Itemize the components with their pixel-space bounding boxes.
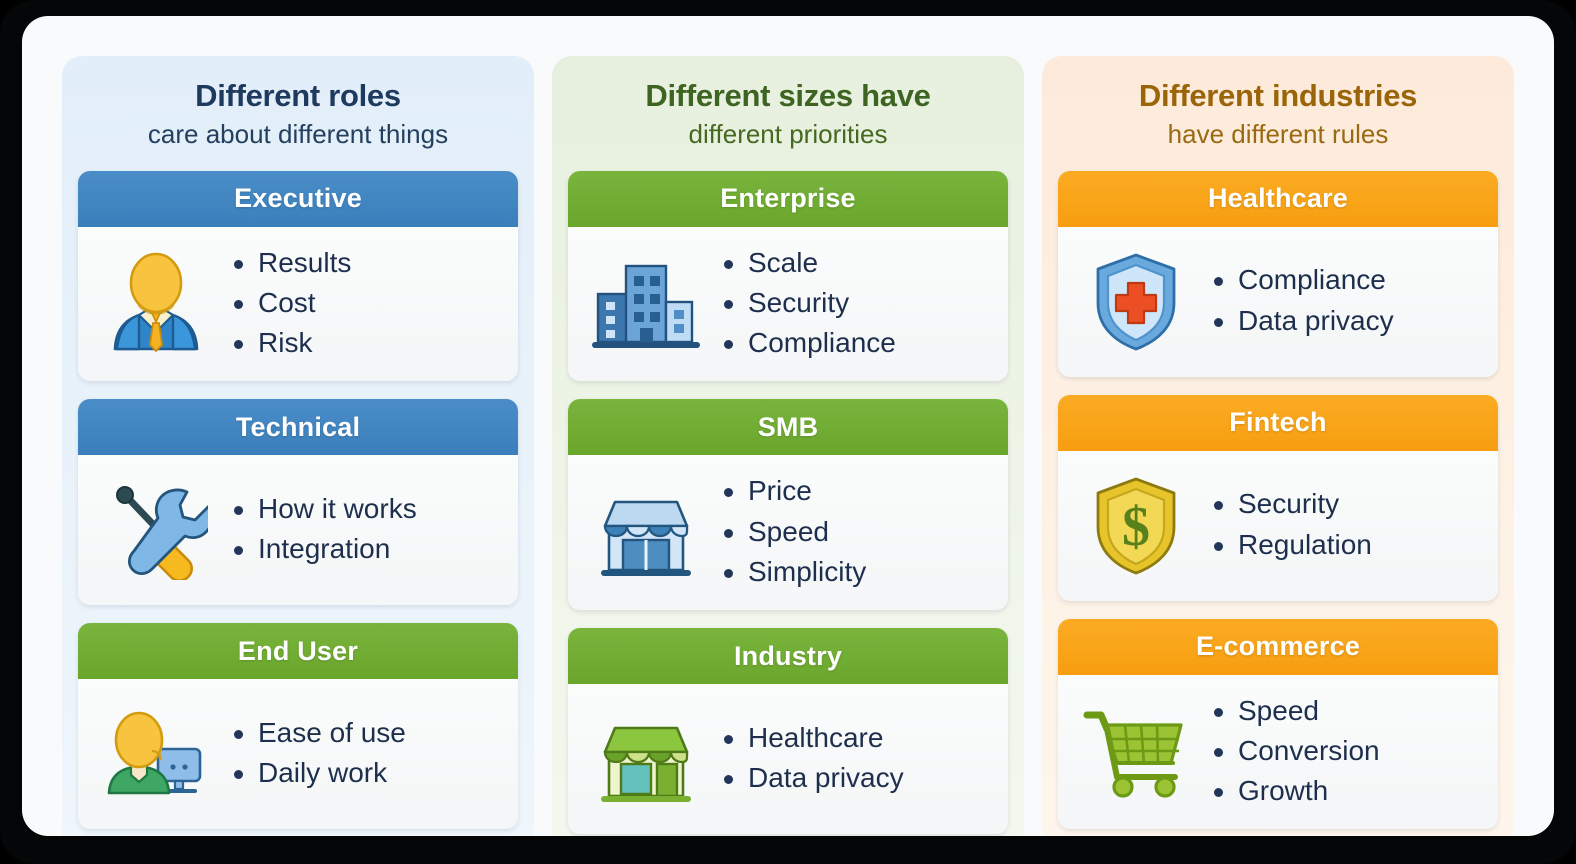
medical-shield-icon — [1076, 245, 1196, 357]
list-item: Security — [722, 283, 994, 323]
card-smb-header: SMB — [568, 399, 1008, 455]
list-item: Compliance — [1212, 260, 1484, 300]
card-fintech-body: $ Security Regulation — [1058, 451, 1498, 601]
card-healthcare-header: Healthcare — [1058, 171, 1498, 227]
outer-frame: Different roles care about different thi… — [0, 0, 1576, 864]
list-item: Speed — [1212, 691, 1484, 731]
column-roles-title: Different roles — [78, 78, 518, 113]
card-end-user-header: End User — [78, 623, 518, 679]
svg-text:$: $ — [1122, 496, 1150, 558]
card-smb-bullets: Price Speed Simplicity — [712, 471, 994, 592]
list-item: Ease of use — [232, 713, 504, 753]
list-item: Price — [722, 471, 994, 511]
column-roles-subtitle: care about different things — [78, 119, 518, 150]
card-executive[interactable]: Executive — [78, 171, 518, 382]
card-technical-bullets: How it works Integration — [222, 489, 504, 570]
list-item: Healthcare — [722, 718, 994, 758]
card-technical-body: How it works Integration — [78, 455, 518, 605]
shopping-cart-icon — [1076, 695, 1196, 807]
card-industry[interactable]: Industry — [568, 628, 1008, 834]
list-item: Data privacy — [1212, 301, 1484, 341]
dollar-shield-icon: $ — [1076, 469, 1196, 581]
wrench-screwdriver-icon — [96, 473, 216, 585]
list-item: Compliance — [722, 323, 994, 363]
card-fintech-header: Fintech — [1058, 395, 1498, 451]
card-industry-header: Industry — [568, 628, 1008, 684]
column-sizes-subtitle: different priorities — [568, 119, 1008, 150]
list-item: Growth — [1212, 771, 1484, 811]
list-item: Results — [232, 243, 504, 283]
card-executive-bullets: Results Cost Risk — [222, 243, 504, 364]
list-item: Speed — [722, 512, 994, 552]
business-person-icon — [96, 247, 216, 359]
list-item: Integration — [232, 529, 504, 569]
office-buildings-icon — [586, 247, 706, 359]
list-item: Security — [1212, 484, 1484, 524]
card-healthcare[interactable]: Healthcare Compliance Data privacy — [1058, 171, 1498, 377]
column-industries-title: Different industries — [1058, 78, 1498, 113]
card-smb-body: Price Speed Simplicity — [568, 455, 1008, 610]
column-industries-heading: Different industries have different rule… — [1058, 78, 1498, 151]
card-executive-header: Executive — [78, 171, 518, 227]
columns-container: Different roles care about different thi… — [62, 56, 1514, 836]
card-healthcare-body: Compliance Data privacy — [1058, 227, 1498, 377]
card-ecommerce-body: Speed Conversion Growth — [1058, 675, 1498, 830]
list-item: Daily work — [232, 753, 504, 793]
column-roles-heading: Different roles care about different thi… — [78, 78, 518, 151]
list-item: Conversion — [1212, 731, 1484, 771]
list-item: How it works — [232, 489, 504, 529]
card-healthcare-bullets: Compliance Data privacy — [1202, 260, 1484, 341]
column-sizes-heading: Different sizes have different prioritie… — [568, 78, 1008, 151]
green-storefront-icon — [586, 702, 706, 814]
column-roles: Different roles care about different thi… — [62, 56, 534, 836]
card-end-user[interactable]: End User — [78, 623, 518, 829]
column-sizes-title: Different sizes have — [568, 78, 1008, 113]
card-enterprise-header: Enterprise — [568, 171, 1008, 227]
card-technical[interactable]: Technical — [78, 399, 518, 605]
column-industries: Different industries have different rule… — [1042, 56, 1514, 836]
card-enterprise[interactable]: Enterprise — [568, 171, 1008, 382]
column-sizes: Different sizes have different prioritie… — [552, 56, 1024, 836]
card-industry-bullets: Healthcare Data privacy — [712, 718, 994, 799]
card-industry-body: Healthcare Data privacy — [568, 684, 1008, 834]
infographic-page: Different roles care about different thi… — [22, 16, 1554, 836]
list-item: Data privacy — [722, 758, 994, 798]
card-ecommerce-header: E-commerce — [1058, 619, 1498, 675]
column-industries-subtitle: have different rules — [1058, 119, 1498, 150]
list-item: Risk — [232, 323, 504, 363]
card-end-user-body: Ease of use Daily work — [78, 679, 518, 829]
list-item: Scale — [722, 243, 994, 283]
list-item: Regulation — [1212, 525, 1484, 565]
card-smb[interactable]: SMB — [568, 399, 1008, 610]
blue-storefront-icon — [586, 476, 706, 588]
card-end-user-bullets: Ease of use Daily work — [222, 713, 504, 794]
list-item: Simplicity — [722, 552, 994, 592]
card-fintech[interactable]: Fintech $ Security Regulation — [1058, 395, 1498, 601]
card-fintech-bullets: Security Regulation — [1202, 484, 1484, 565]
card-ecommerce[interactable]: E-commerce — [1058, 619, 1498, 830]
list-item: Cost — [232, 283, 504, 323]
card-enterprise-body: Scale Security Compliance — [568, 227, 1008, 382]
card-enterprise-bullets: Scale Security Compliance — [712, 243, 994, 364]
card-executive-body: Results Cost Risk — [78, 227, 518, 382]
card-technical-header: Technical — [78, 399, 518, 455]
card-ecommerce-bullets: Speed Conversion Growth — [1202, 691, 1484, 812]
user-with-monitor-icon — [96, 697, 216, 809]
